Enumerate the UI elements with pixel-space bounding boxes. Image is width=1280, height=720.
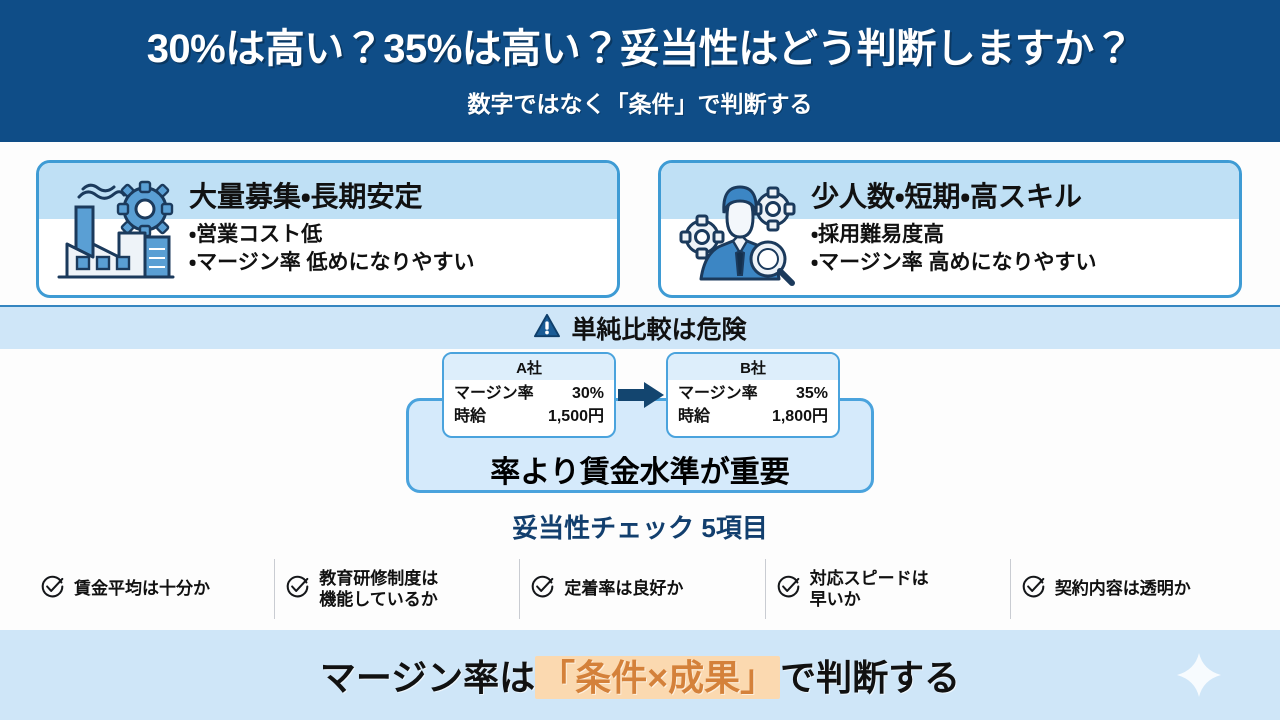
- page-title: 30%は高い？35%は高い？妥当性はどう判断しますか？: [147, 27, 1134, 71]
- slide-root: 30%は高い？35%は高い？妥当性はどう判断しますか？ 数字ではなく「条件」で判…: [0, 0, 1280, 720]
- firm-row-label: 時給: [454, 406, 486, 429]
- firm-row-value: 35%: [796, 383, 828, 406]
- warning-band: 単純比較は危険: [0, 305, 1280, 349]
- header-banner: 30%は高い？35%は高い？妥当性はどう判断しますか？ 数字ではなく「条件」で判…: [0, 0, 1280, 142]
- checklist-item-wage-average: 賃金平均は十分か: [30, 559, 275, 619]
- sparkle-icon: [1176, 652, 1222, 698]
- check-circle-icon: [776, 574, 801, 604]
- card-bullets-small-team: ・採用難易度高 ・マージン率 高めになりやすい: [811, 221, 1097, 276]
- firm-rows-b: マージン率 35% 時給 1,800円: [668, 380, 838, 428]
- businessman-gear-magnifier-icon: [675, 171, 801, 291]
- checklist-item-contract-transparency: 契約内容は透明か: [1011, 559, 1255, 619]
- card-title-small-team: 少人数・短期・高スキル: [811, 171, 1082, 219]
- right-arrow-icon: [618, 380, 666, 410]
- checklist-item-label: 対応スピードは 早いか: [810, 568, 929, 611]
- firm-name-a: A社: [444, 354, 614, 380]
- firm-row-value: 30%: [572, 383, 604, 406]
- factory-gear-icon: [53, 171, 179, 291]
- checklist-item-label: 教育研修制度は 機能しているか: [319, 568, 438, 611]
- footer-highlight: 「条件×成果」: [535, 656, 780, 699]
- warning-text: 単純比較は危険: [571, 310, 746, 346]
- firm-row-value: 1,800円: [772, 406, 828, 429]
- firm-row: マージン率 35%: [678, 383, 828, 406]
- card-bullet: ・マージン率 低めになりやすい: [189, 249, 475, 277]
- firm-name-b: B社: [668, 354, 838, 380]
- conclusion-text: 率より賃金水準が重要: [406, 446, 874, 492]
- checklist-item-retention-rate: 定着率は良好か: [520, 559, 765, 619]
- checklist-item-training-system: 教育研修制度は 機能しているか: [275, 559, 520, 619]
- check-circle-icon: [1021, 574, 1046, 604]
- footer-banner: マージン率は「条件×成果」で判断する: [0, 630, 1280, 720]
- firm-box-a: A社 マージン率 30% 時給 1,500円: [442, 352, 616, 438]
- card-bullet: ・採用難易度高: [811, 221, 1097, 249]
- checklist-item-label: 契約内容は透明か: [1055, 578, 1191, 599]
- page-subtitle: 数字ではなく「条件」で判断する: [468, 85, 813, 119]
- check-circle-icon: [285, 574, 310, 604]
- firm-row-label: 時給: [678, 406, 710, 429]
- footer-suffix: で判断する: [780, 657, 960, 698]
- checklist-item-label: 賃金平均は十分か: [74, 578, 210, 599]
- card-bullets-mass-recruiting: ・営業コスト低 ・マージン率 低めになりやすい: [189, 221, 475, 276]
- check-circle-icon: [530, 574, 555, 604]
- warning-triangle-icon: [533, 313, 561, 344]
- firm-row: マージン率 30%: [454, 383, 604, 406]
- card-mass-recruiting: 大量募集・長期安定 ・営業コスト低 ・マージン率 低めになりやすい: [36, 160, 620, 298]
- checklist-item-label: 定着率は良好か: [564, 578, 683, 599]
- firm-row: 時給 1,500円: [454, 406, 604, 429]
- card-bullet: ・マージン率 高めになりやすい: [811, 249, 1097, 277]
- card-bullet: ・営業コスト低: [189, 221, 475, 249]
- firm-row-label: マージン率: [454, 383, 534, 406]
- footer-message: マージン率は「条件×成果」で判断する: [320, 649, 960, 701]
- firm-row-value: 1,500円: [548, 406, 604, 429]
- checklist-item-response-speed: 対応スピードは 早いか: [766, 559, 1011, 619]
- comparison-block: 率より賃金水準が重要 A社 マージン率 30% 時給 1,500円 B社: [0, 350, 1280, 500]
- firm-row-label: マージン率: [678, 383, 758, 406]
- firm-box-b: B社 マージン率 35% 時給 1,800円: [666, 352, 840, 438]
- checklist-title: 妥当性チェック 5項目: [0, 508, 1280, 545]
- check-circle-icon: [40, 574, 65, 604]
- footer-prefix: マージン率は: [320, 657, 535, 698]
- firm-rows-a: マージン率 30% 時給 1,500円: [444, 380, 614, 428]
- card-title-mass-recruiting: 大量募集・長期安定: [189, 171, 423, 219]
- checklist-row: 賃金平均は十分か 教育研修制度は 機能しているか: [30, 556, 1255, 622]
- firm-row: 時給 1,800円: [678, 406, 828, 429]
- comparison-cards: 大量募集・長期安定 ・営業コスト低 ・マージン率 低めになりやすい: [0, 160, 1280, 300]
- card-small-team: 少人数・短期・高スキル ・採用難易度高 ・マージン率 高めになりやすい: [658, 160, 1242, 298]
